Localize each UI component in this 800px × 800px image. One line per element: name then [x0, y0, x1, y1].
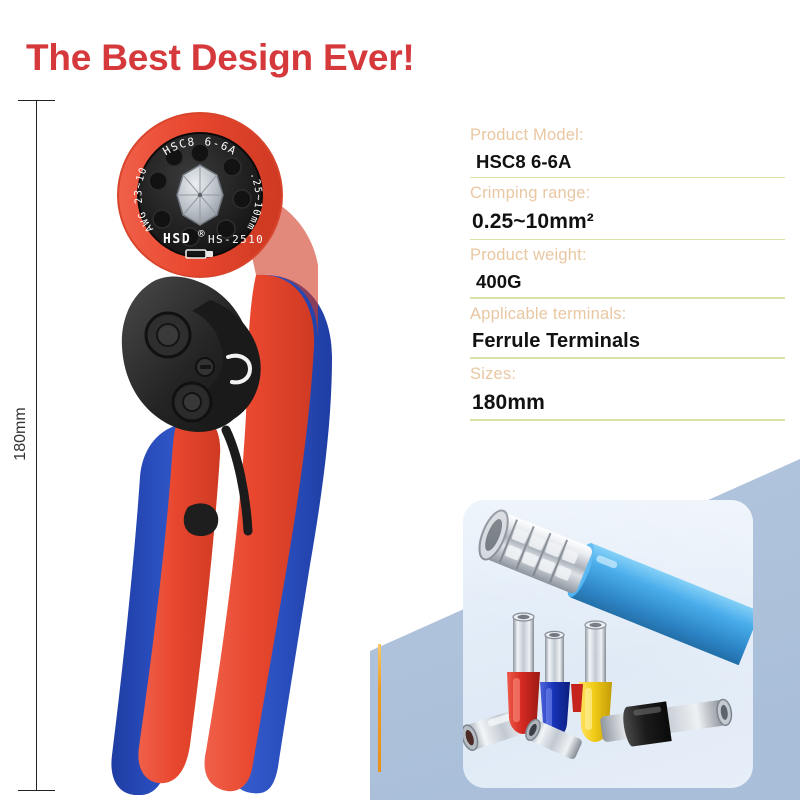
spec-row-product-model: Product Model: HSC8 6-6A [470, 124, 790, 178]
spec-divider [470, 239, 785, 241]
accent-line [378, 644, 381, 772]
product-infographic: The Best Design Ever! 180mm [0, 0, 800, 800]
spec-value: Ferrule Terminals [470, 326, 790, 356]
crimping-tool-illustration: HSC8 6-6A AWG 23~10 0.25~10mm² HSD ® HS-… [60, 95, 370, 795]
dimension-cap-bottom [18, 790, 55, 791]
spec-list: Product Model: HSC8 6-6A Crimping range:… [470, 124, 790, 425]
spec-value: 180mm [470, 387, 790, 419]
dimension-label: 180mm [12, 389, 30, 479]
spec-label: Crimping range: [470, 182, 790, 206]
spec-value: HSC8 6-6A [470, 148, 790, 176]
dial-brand-mark: ® [198, 227, 206, 240]
spec-row-sizes: Sizes: 180mm [470, 363, 790, 421]
tool-left-handle [111, 413, 220, 795]
spec-divider [470, 177, 785, 179]
spec-label: Product Model: [470, 124, 790, 148]
ferrule-black [599, 693, 734, 751]
spec-divider [470, 419, 785, 421]
spec-row-crimping-range: Crimping range: 0.25~10mm² [470, 182, 790, 240]
spec-label: Applicable terminals: [470, 303, 790, 327]
page-title: The Best Design Ever! [26, 38, 415, 79]
dial-brand-text: HSD [163, 232, 191, 247]
dimension-line [36, 100, 37, 790]
spec-row-product-weight: Product weight: 400G [470, 244, 790, 298]
spec-value: 400G [470, 268, 790, 296]
dial-model-text: HS-2510 [208, 233, 264, 246]
spec-value: 0.25~10mm² [470, 206, 790, 238]
spec-divider [470, 297, 785, 299]
ferrule-terminals-photo [463, 500, 753, 788]
spec-label: Sizes: [470, 363, 790, 387]
ferrule-red [507, 613, 540, 734]
spec-row-applicable-terminals: Applicable terminals: Ferrule Terminals [470, 303, 790, 360]
spec-divider [470, 357, 785, 359]
spec-label: Product weight: [470, 244, 790, 268]
ferrule-blue [540, 631, 570, 738]
tool-crimp-die [177, 165, 223, 225]
